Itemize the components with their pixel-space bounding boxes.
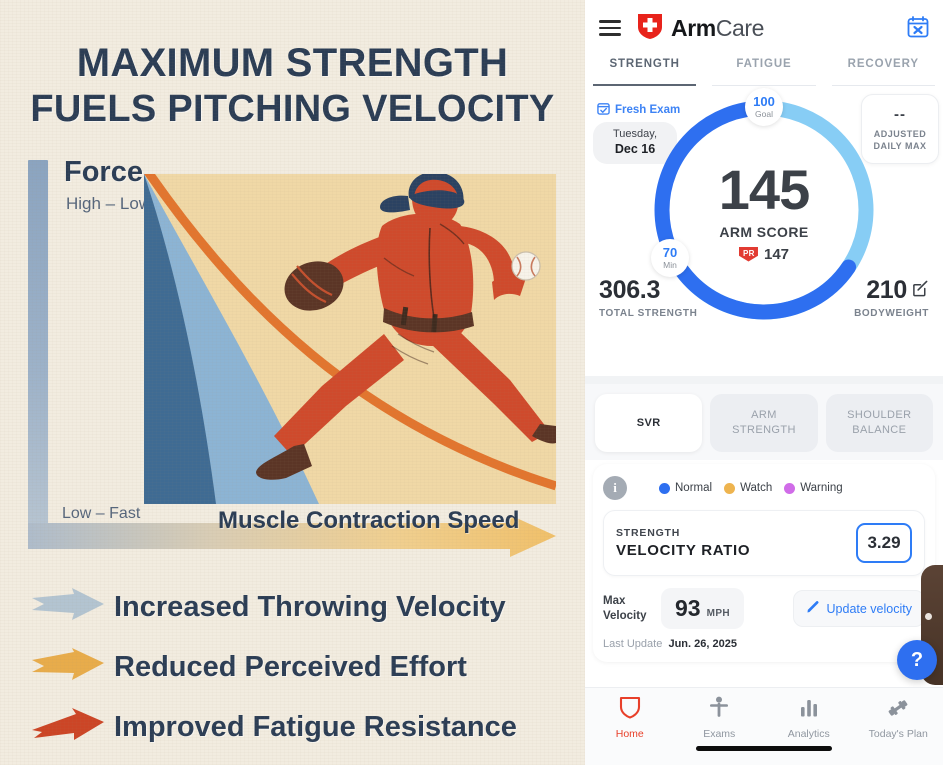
arrow-right-icon [30,648,106,687]
tab-fatigue[interactable]: FATIGUE [704,56,823,86]
home-indicator [696,746,832,751]
goal-value: 100 [753,95,775,108]
max-velocity-value: 93 [675,595,701,622]
arrow-right-icon [30,588,106,627]
shield-cross-icon [637,12,663,45]
brand-name-bold: Arm [671,15,716,41]
bar-chart-icon [798,696,820,724]
min-value: 70 [663,246,677,259]
nav-item-todays-plan[interactable]: Today's Plan [854,696,943,740]
brand-logo: ArmCare [637,12,764,45]
section-tabs: STRENGTH FATIGUE RECOVERY [585,56,943,86]
metric-tab-svr[interactable]: SVR [595,394,702,452]
legend-label-warning: Warning [800,482,842,494]
screen-root: MAXIMUM STRENGTH FUELS PITCHING VELOCITY… [0,0,943,765]
bodyweight-value: 210 [866,276,907,305]
adjusted-daily-max-value: -- [894,106,906,123]
legend-normal: Normal [659,482,712,494]
benefit-label: Improved Fatigue Resistance [114,711,517,744]
tab-recovery[interactable]: RECOVERY [824,56,943,86]
list-item: Improved Fatigue Resistance [30,698,570,756]
legend-label-watch: Watch [740,482,772,494]
svr-card: i Normal Watch Warning [593,464,935,662]
headline-line-2: FUELS PITCHING VELOCITY [0,89,585,130]
bottom-navigation: Home Exams [585,687,943,765]
velocity-ratio-kicker: STRENGTH [616,527,750,539]
benefit-label: Reduced Perceived Effort [114,651,467,684]
nav-item-exams[interactable]: Exams [675,696,765,740]
nav-item-home[interactable]: Home [585,696,675,740]
legend-dot-watch [724,483,735,494]
velocity-ratio-value: 3.29 [856,523,912,563]
legend-dot-warning [784,483,795,494]
total-strength-value: 306.3 [599,276,697,305]
dumbbell-icon [886,696,910,724]
app-header: ArmCare [585,0,943,56]
help-button[interactable]: ? [897,640,937,680]
armcare-app-panel: ArmCare STRENGTH FATIGUE RECOVERY [585,0,943,765]
benefit-label: Increased Throwing Velocity [114,591,506,624]
arrow-right-icon [30,708,106,747]
calendar-check-icon [597,102,610,118]
legend-watch: Watch [724,482,772,494]
brand-name: ArmCare [671,15,764,42]
legend-items: Normal Watch Warning [659,482,843,494]
nav-label-home: Home [616,728,644,740]
section-divider [585,376,943,384]
nav-label-exams: Exams [703,728,735,740]
total-strength-label: TOTAL STRENGTH [599,308,697,319]
info-icon[interactable]: i [603,476,627,500]
page-title: MAXIMUM STRENGTH FUELS PITCHING VELOCITY [0,42,585,130]
headline-line-1: MAXIMUM STRENGTH [0,42,585,85]
nav-label-analytics: Analytics [788,728,830,740]
list-item: Increased Throwing Velocity [30,578,570,636]
min-marker: 70 Min [651,239,689,277]
benefits-list: Increased Throwing Velocity Reduced Perc… [30,578,570,758]
update-velocity-label: Update velocity [827,602,912,616]
legend-dot-normal [659,483,670,494]
pr-value: 147 [764,246,789,263]
pr-badge: PR [739,247,758,262]
goal-label: Goal [755,109,773,119]
edit-square-icon[interactable] [912,280,929,302]
metric-tab-bar: SVR ARMSTRENGTH SHOULDERBALANCE [585,384,943,460]
chart-plot-area [144,174,556,504]
adjusted-daily-max-label: ADJUSTED DAILY MAX [873,129,926,152]
total-strength-stat: 306.3 TOTAL STRENGTH [599,276,697,319]
last-update-date: Jun. 26, 2025 [668,638,737,650]
tab-strength[interactable]: STRENGTH [585,56,704,86]
last-update-label: Last Update [603,638,662,650]
pr-row: PR 147 [739,246,789,263]
x-axis-label: Muscle Contraction Speed [218,507,519,535]
max-velocity-label: MaxVelocity [603,594,651,623]
min-label: Min [663,260,677,270]
brand-name-light: Care [716,15,764,41]
arm-score-value: 145 [719,162,809,218]
legend-warning: Warning [784,482,842,494]
force-velocity-chart: Force High – Low Low – Fast [28,160,556,560]
last-update-row: Last Update Jun. 26, 2025 [603,638,925,650]
metric-tab-arm-strength[interactable]: ARMSTRENGTH [710,394,817,452]
legend-label-normal: Normal [675,482,712,494]
velocity-ratio-card[interactable]: STRENGTH VELOCITY RATIO 3.29 [603,510,925,576]
home-plate-icon [619,696,641,724]
arm-score-label: ARM SCORE [719,224,808,240]
nav-item-analytics[interactable]: Analytics [764,696,854,740]
velocity-ratio-title: VELOCITY RATIO [616,542,750,559]
update-velocity-button[interactable]: Update velocity [793,590,925,627]
max-velocity-unit: MPH [707,608,730,619]
max-velocity-value-box[interactable]: 93 MPH [661,588,744,629]
person-icon [708,696,730,724]
hamburger-icon[interactable] [599,16,621,39]
status-legend: i Normal Watch Warning [603,474,925,510]
goal-marker: 100 Goal [745,88,783,126]
max-velocity-row: MaxVelocity 93 MPH Update velocity [603,588,925,629]
arm-score-panel: Fresh Exam Tuesday, Dec 16 -- ADJUSTED D… [585,86,943,376]
calendar-x-icon[interactable] [907,16,929,43]
pencil-icon [806,600,820,617]
nav-label-todays-plan: Today's Plan [869,728,928,740]
list-item: Reduced Perceived Effort [30,638,570,696]
velocity-ratio-text: STRENGTH VELOCITY RATIO [616,527,750,559]
chart-svg [144,174,556,504]
infographic-panel: MAXIMUM STRENGTH FUELS PITCHING VELOCITY… [0,0,585,765]
y-axis-sublabel: High – Low [66,194,151,214]
y-axis [28,160,48,545]
bodyweight-row: 210 [854,276,929,305]
bodyweight-label: BODYWEIGHT [854,308,929,319]
y-axis-label: Force [64,156,143,189]
metric-tab-shoulder-balance[interactable]: SHOULDERBALANCE [826,394,933,452]
bodyweight-stat[interactable]: 210 BODYWEIGHT [854,276,929,319]
